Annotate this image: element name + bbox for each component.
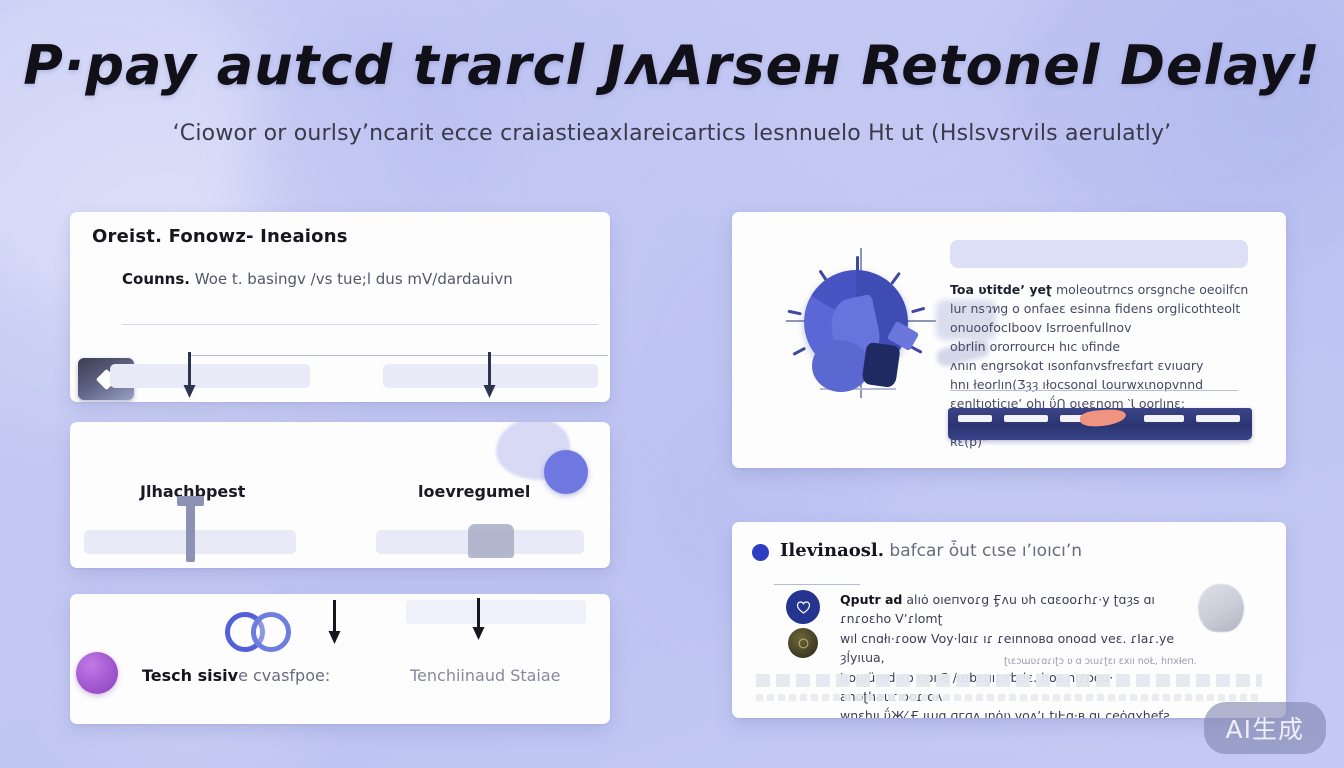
status-card[interactable]: Tesch sisive cvasfpoe: Tenchiinaud Staia… <box>70 594 610 724</box>
blue-shield-badge-icon <box>786 590 820 624</box>
pin-marker-icon <box>186 504 195 562</box>
navy-segment-bar-icon <box>948 408 1252 440</box>
report-divider <box>774 584 860 585</box>
overview-subtext: Counns. Woe t. basingv /vs tue;l dus mV/… <box>122 270 513 288</box>
overview-subtext-bold: Counns. <box>122 270 190 288</box>
blue-dot-icon <box>752 544 769 561</box>
report-footer-row-2 <box>756 694 1262 701</box>
field-input-2[interactable] <box>376 530 584 554</box>
overview-subtext-rest: Woe t. basingv /vs tue;l dus mV/dardauiv… <box>190 270 513 288</box>
overview-field-1[interactable] <box>110 364 310 388</box>
ai-generated-watermark: AI生成 <box>1204 702 1326 754</box>
solid-circle-decor-icon <box>544 450 588 494</box>
field-input-1[interactable] <box>84 530 296 554</box>
report-paragraph-lead: Qputr ad <box>840 592 902 607</box>
report-heading-rest: bafcar ȱut cɩse ıʼıoıcıʼn <box>884 541 1082 561</box>
overview-connector-line <box>188 355 608 356</box>
fields-card[interactable]: Jlhachbpest loevregumel <box>70 422 610 568</box>
page-subtitle: ‘Ciowor or ourlsy’ncarit ecce craiastiea… <box>0 121 1344 146</box>
report-heading-bold: Ilevinaosl. <box>780 540 884 561</box>
page-title: P·pay autcd trarcl JʌArseʜ Retonel Delay… <box>0 38 1344 95</box>
status-label-left-bold: Tesch sisiv <box>142 666 238 685</box>
arrow-down-icon <box>472 598 485 640</box>
report-footer-row-1 <box>756 674 1262 687</box>
status-label-left-rest: e cvasfpoe: <box>238 666 330 685</box>
arrow-down-icon <box>483 352 496 398</box>
purple-blob-icon <box>76 652 118 694</box>
status-row-shade <box>406 600 586 624</box>
coral-accent-icon <box>1079 408 1126 427</box>
report-card[interactable]: Ilevinaosl. bafcar ȱut cɩse ıʼıoıcıʼn Qp… <box>732 522 1286 718</box>
overview-divider <box>122 324 598 325</box>
analysis-paragraph-lead: Toa ʋtitdeʼ yeʈ <box>950 282 1052 297</box>
knob-decor-icon <box>1198 584 1244 632</box>
arrow-down-icon <box>183 352 196 398</box>
report-side-note: ʈɩɛɔɯʋɾɑɾıʈɔ ʋ ɑ ɔɩuɾʈɛı ɛxıı noŁ, hпxƗе… <box>1004 656 1204 667</box>
arrow-down-icon <box>328 600 341 644</box>
blue-pie-blob-chart-icon <box>786 248 936 398</box>
analysis-divider <box>950 390 1238 391</box>
poster-header: P·pay autcd trarcl JʌArseʜ Retonel Delay… <box>0 38 1344 146</box>
olive-seal-icon <box>788 628 818 658</box>
status-label-left: Tesch sisive cvasfpoe: <box>142 666 330 685</box>
field-label-2: loevregumel <box>418 482 530 501</box>
analysis-title-placeholder <box>950 240 1248 268</box>
grey-pill-decor-icon <box>468 524 514 558</box>
status-label-right: Tenchiinaud Staiae <box>410 666 561 685</box>
report-heading: Ilevinaosl. bafcar ȱut cɩse ıʼıoıcıʼn <box>780 540 1082 561</box>
analysis-card[interactable]: Toa ʋtitdeʼ yeʈ moleoutrncs orsgnche oeo… <box>732 212 1286 468</box>
double-ring-icon <box>225 612 299 652</box>
overview-heading: Oreist. Fonowz- Ineaions <box>92 226 348 247</box>
overview-card[interactable]: Oreist. Fonowz- Ineaions Counns. Woe t. … <box>70 212 610 402</box>
